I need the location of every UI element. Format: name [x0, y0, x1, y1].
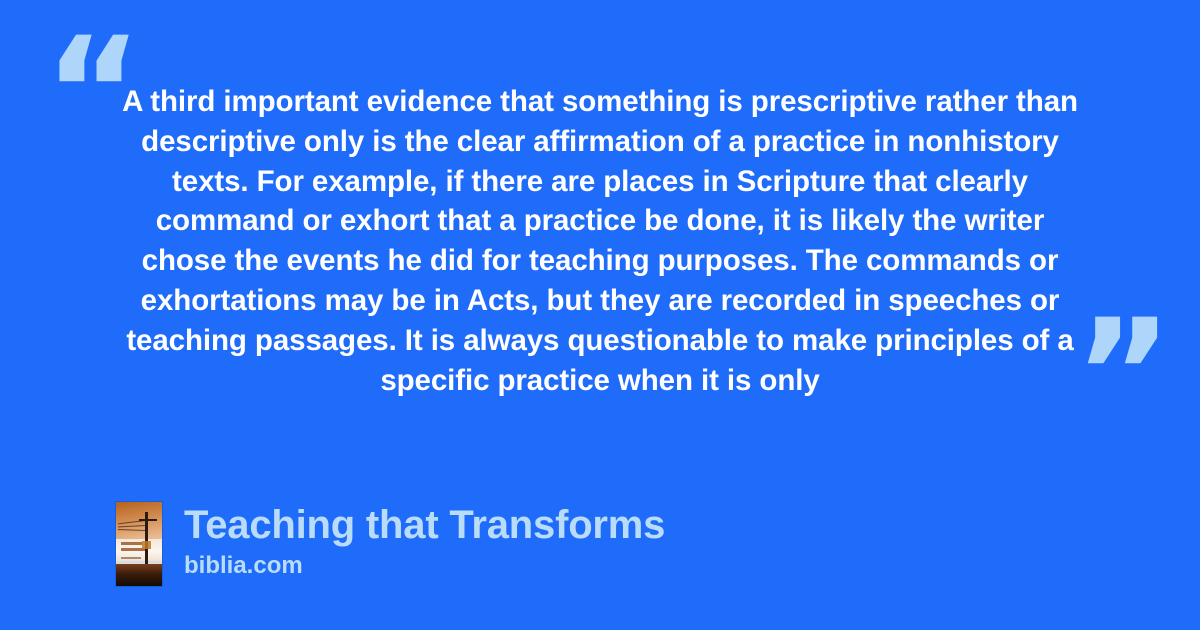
cover-title-line: [121, 542, 142, 545]
quote-card: “ A third important evidence that someth…: [0, 0, 1200, 630]
quote-text: A third important evidence that somethin…: [110, 82, 1090, 400]
footer-text-group: Teaching that Transforms biblia.com: [184, 502, 665, 581]
closing-quote-icon: ”: [1074, 300, 1173, 450]
footer: Teaching that Transforms biblia.com: [116, 502, 665, 586]
site-name: biblia.com: [184, 551, 665, 581]
cover-crossarm: [139, 519, 157, 521]
cover-author-line: [121, 557, 141, 559]
book-title: Teaching that Transforms: [184, 502, 665, 548]
cover-ground: [116, 564, 162, 586]
cover-badge: [142, 541, 151, 549]
book-cover-icon: [116, 502, 162, 586]
